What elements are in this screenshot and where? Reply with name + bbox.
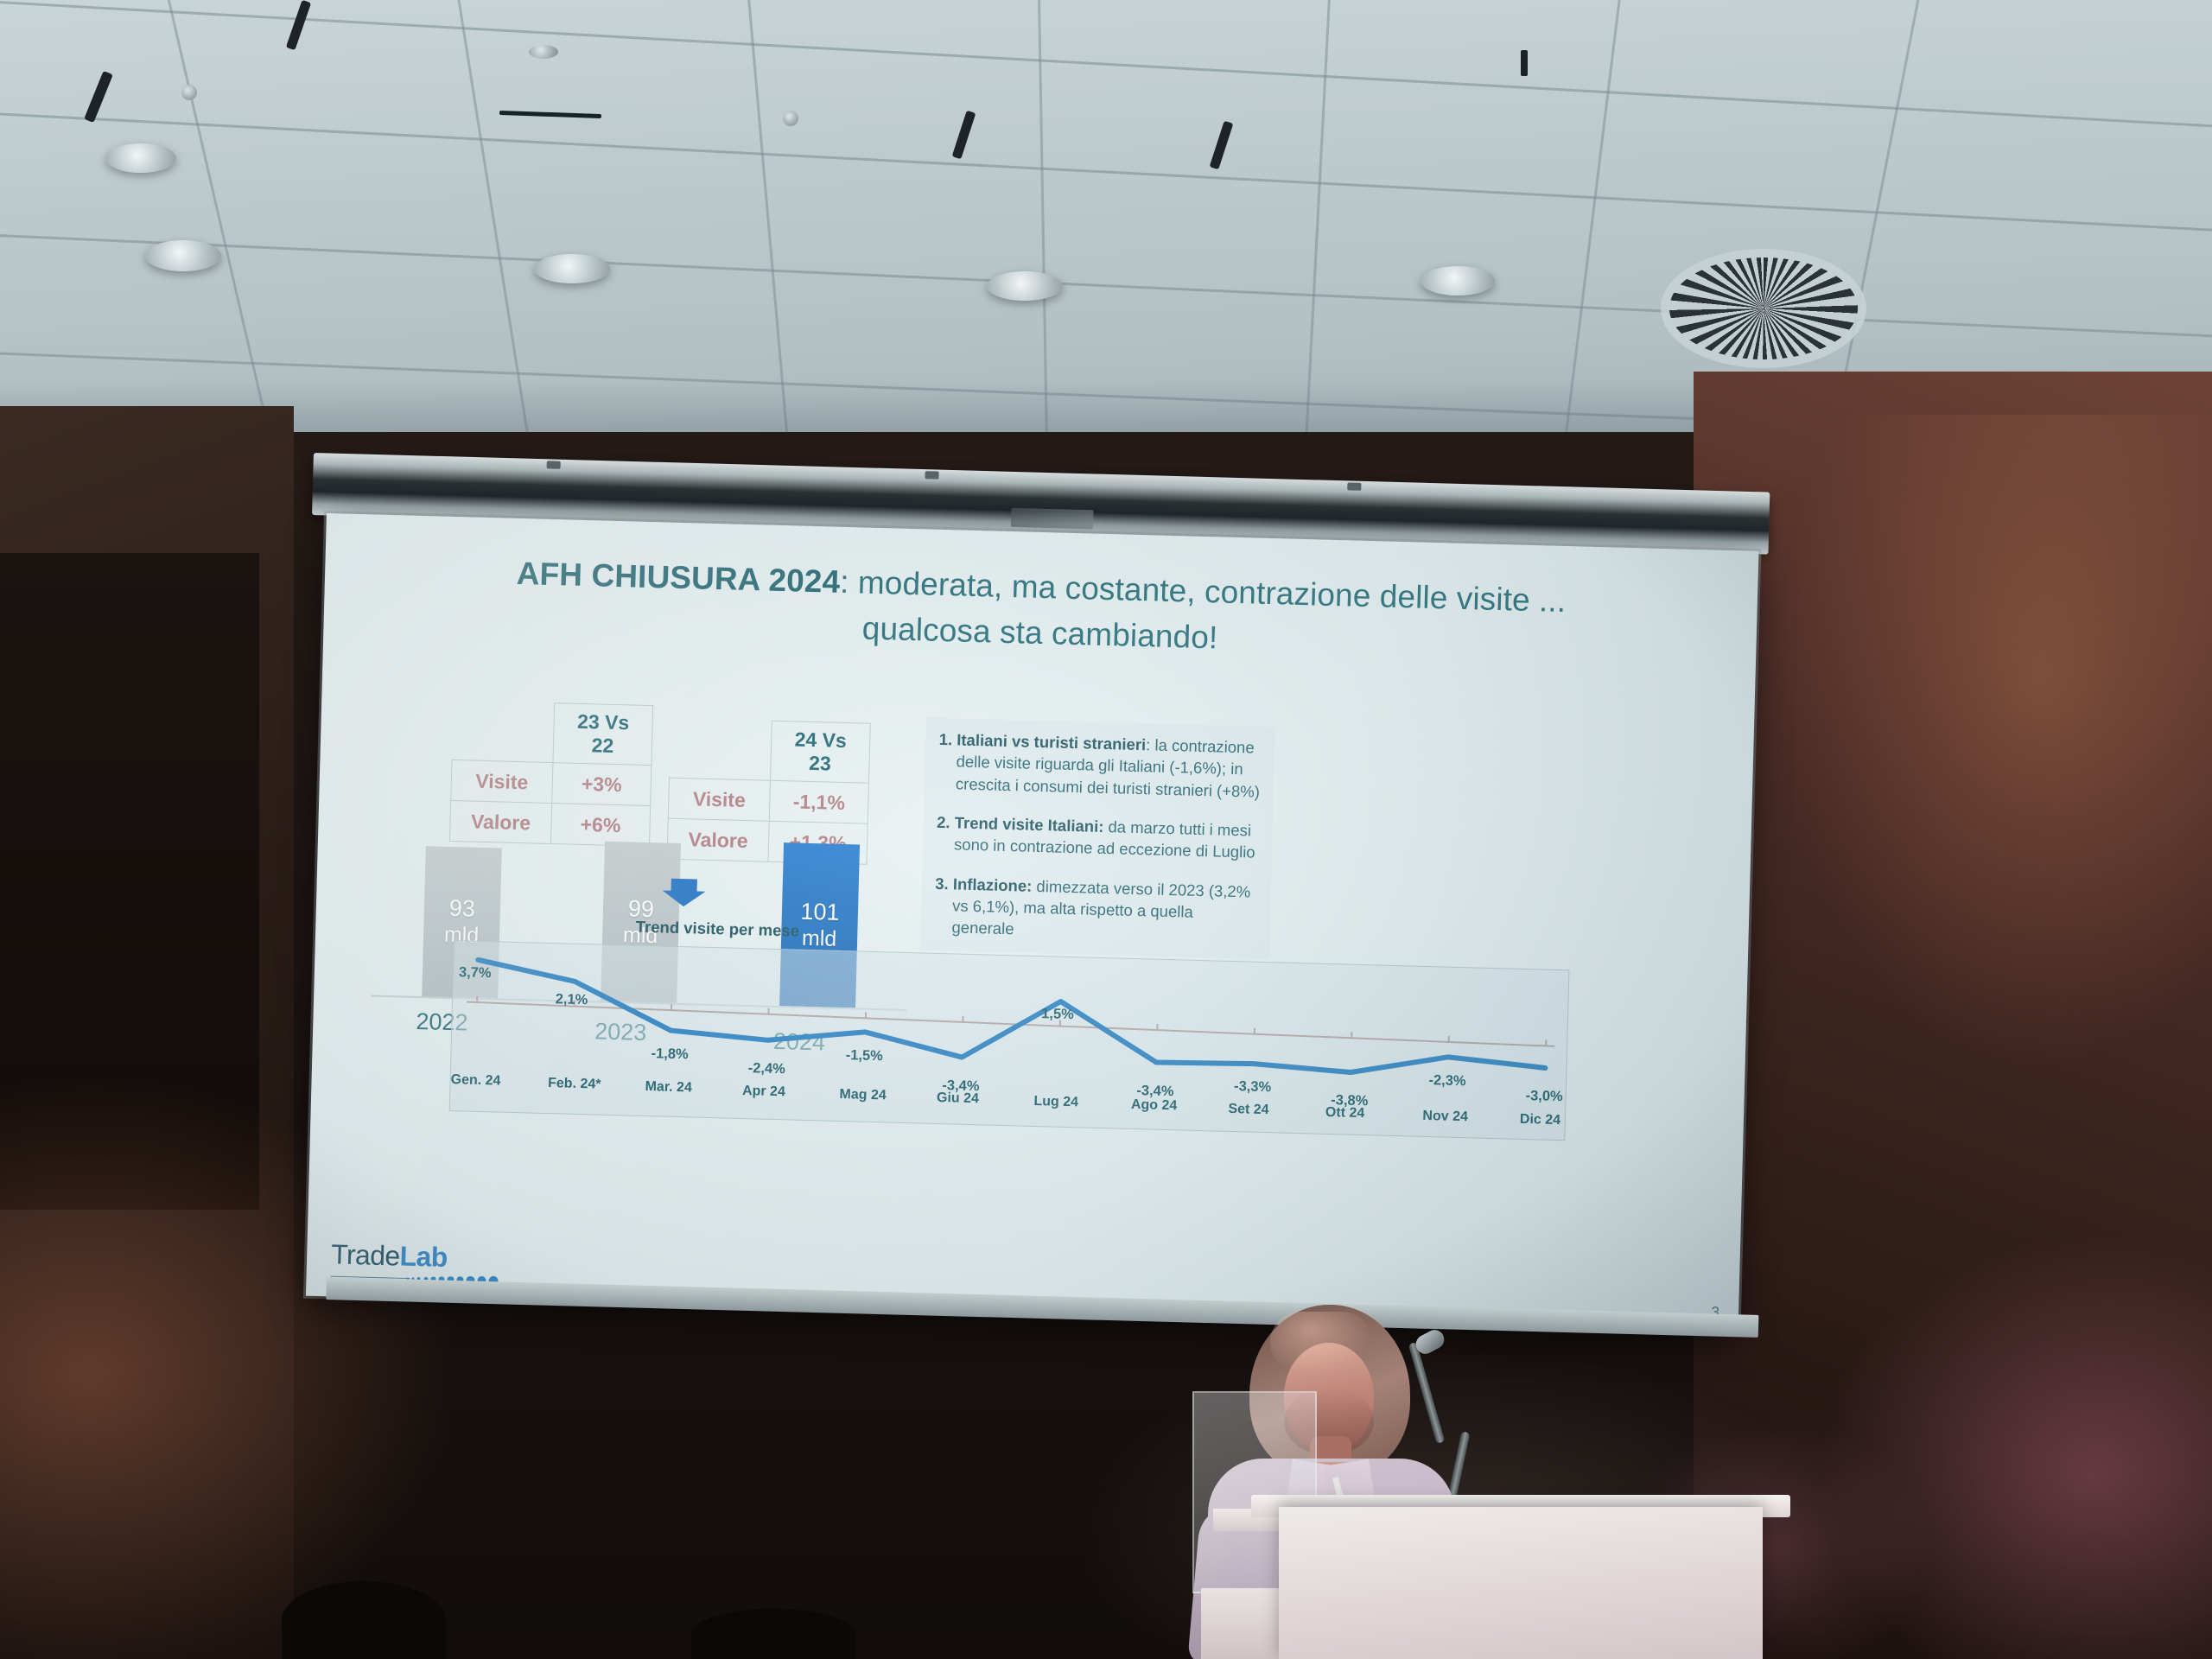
month-label-Lug24: Lug 24 (1033, 1094, 1078, 1110)
table-row: Visite -1,1% (668, 778, 868, 823)
month-label-Ago24: Ago 24 (1131, 1097, 1178, 1114)
month-label-Gen24: Gen. 24 (450, 1072, 500, 1090)
row-label-visite: Visite (451, 760, 553, 803)
table-header-24vs23: 24 Vs 23 (770, 721, 870, 783)
value-visite-24vs23: -1,1% (769, 780, 868, 823)
row-label-visite: Visite (668, 778, 770, 821)
month-label-Ott24: Ott 24 (1325, 1105, 1365, 1122)
month-label-Nov24: Nov 24 (1422, 1109, 1468, 1125)
table-row: 23 Vs 22 (452, 700, 653, 765)
line-chart-svg (450, 941, 1569, 1140)
data-label-Nov24: -2,3% (1428, 1072, 1466, 1090)
ceiling-light-icon (145, 240, 221, 271)
slide-title: AFH CHIUSURA 2024: moderata, ma costante… (323, 546, 1758, 675)
housing-brand-logo (1011, 508, 1094, 530)
data-label-Gen24: 3,7% (459, 964, 492, 982)
month-label-Dic24: Dic 24 (1520, 1112, 1561, 1128)
sprinkler-icon (181, 85, 197, 100)
table-corner-cell (452, 700, 555, 762)
month-label-Mag24: Mag 24 (839, 1087, 887, 1103)
conference-room-scene: AFH CHIUSURA 2024: moderata, ma costante… (0, 0, 2212, 1659)
data-label-Feb24: 2,1% (555, 991, 588, 1008)
data-label-Mag24: -1,5% (845, 1047, 883, 1065)
ceiling-light-icon (105, 143, 176, 173)
table-row: 24 Vs 23 (670, 718, 871, 783)
ceiling-linear-slot (1521, 50, 1528, 76)
table-row: Visite +3% (451, 760, 652, 805)
speaker-hair-highlight (1270, 1312, 1372, 1372)
bullet-3-strong: Inflazione: (953, 874, 1033, 894)
ceiling-light-icon (534, 254, 610, 283)
bullet-1-strong: Italiani vs turisti stranieri (957, 730, 1146, 753)
month-label-Giu24: Giu 24 (937, 1090, 979, 1107)
value-visite-23vs22: +3% (552, 763, 652, 806)
data-label-Dic24: -3,0% (1525, 1088, 1563, 1105)
lectern-front-panel: CENTROMARCA Associazione Italiana dell'I… (1279, 1507, 1763, 1659)
ceiling-air-vent-icon (1669, 257, 1858, 359)
table-header-23vs22: 23 Vs 22 (553, 703, 653, 766)
audience-head (691, 1609, 855, 1659)
line-chart-trend-visite: 3,7%2,1%-1,8%-2,4%-1,5%-3,4%1,5%-3,4%-3,… (449, 940, 1570, 1141)
data-label-Mar24: -1,8% (651, 1046, 689, 1063)
tradelab-wordmark: TradeLab (331, 1238, 496, 1274)
right-wall-warm-glow (1771, 415, 2212, 1071)
data-label-Apr24: -2,4% (747, 1060, 785, 1077)
list-item: Trend visite Italiani: da marzo tutti i … (954, 811, 1261, 863)
list-item: Italiani vs turisti stranieri: la contra… (956, 728, 1263, 802)
audience-head (282, 1581, 446, 1659)
ceiling-light-icon (1421, 266, 1495, 296)
key-findings-panel: Italiani vs turisti stranieri: la contra… (920, 717, 1275, 958)
presentation-slide: AFH CHIUSURA 2024: moderata, ma costante… (306, 513, 1758, 1334)
sprinkler-icon (529, 45, 558, 59)
down-arrow-icon (660, 876, 713, 912)
down-arrow-svg (660, 876, 708, 908)
data-label-Set24: -3,3% (1234, 1079, 1272, 1096)
tradelab-lab: Lab (399, 1241, 448, 1273)
line-chart-series (476, 960, 1548, 1077)
month-label-Mar24: Mar. 24 (645, 1079, 692, 1096)
bullet-2-strong: Trend visite Italiani: (954, 813, 1103, 836)
data-label-Lug24: 1,5% (1041, 1006, 1074, 1023)
table-corner-cell (670, 718, 772, 780)
list-item: Inflazione: dimezzata verso il 2023 (3,2… (951, 873, 1259, 946)
projection-screen: AFH CHIUSURA 2024: moderata, ma costante… (306, 513, 1758, 1334)
ceiling-light-icon (987, 271, 1063, 301)
bar-value-2022: 93 (448, 895, 475, 924)
month-label-Apr24: Apr 24 (742, 1084, 785, 1100)
month-label-Feb24: Feb. 24* (548, 1076, 601, 1093)
month-label-Set24: Set 24 (1228, 1102, 1269, 1118)
slide-title-bold: AFH CHIUSURA 2024 (516, 556, 840, 600)
tradelab-trade: Trade (331, 1238, 400, 1271)
sprinkler-icon (783, 111, 798, 126)
